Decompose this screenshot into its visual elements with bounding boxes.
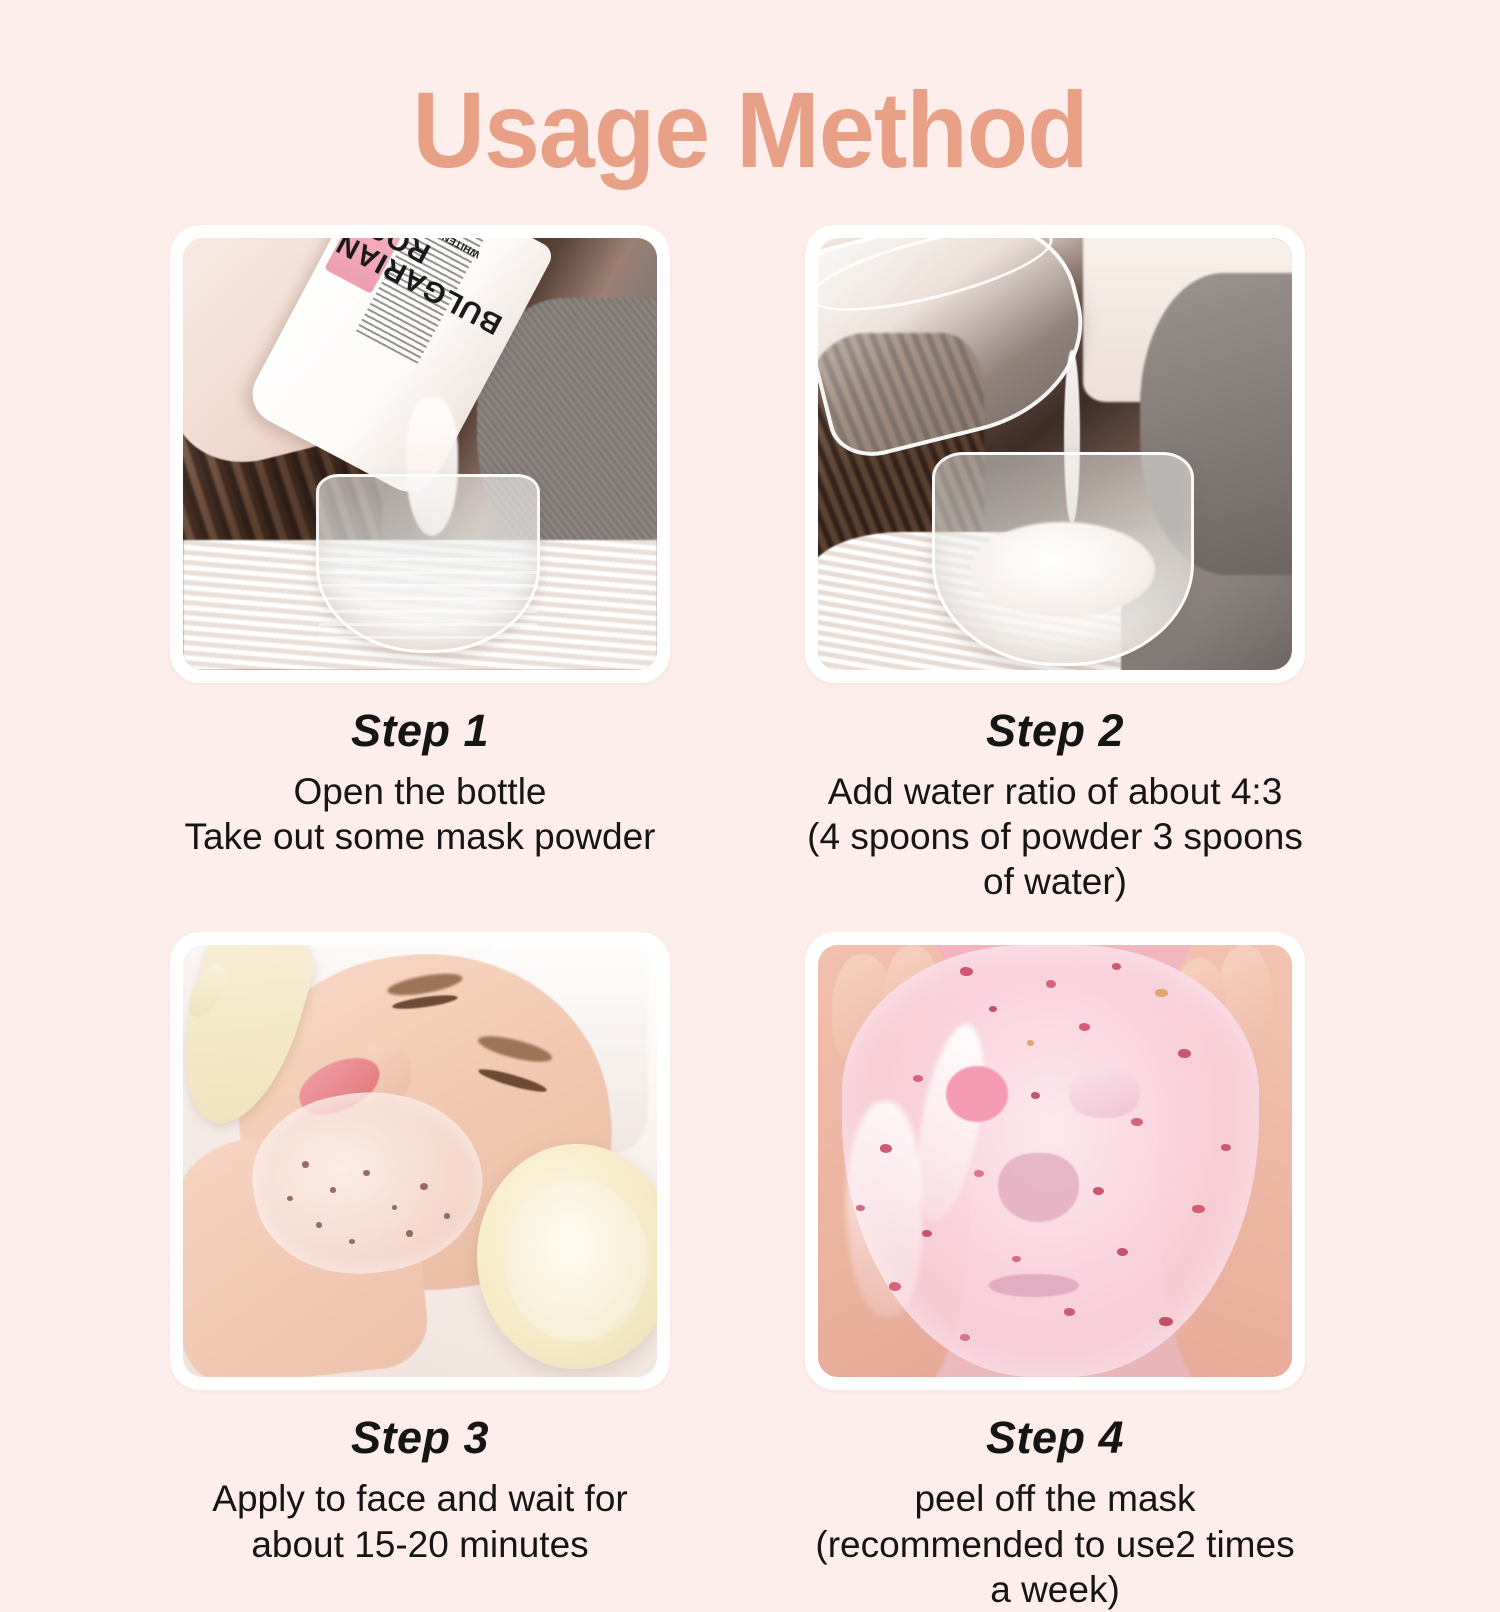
step-1-description: Open the bottle Take out some mask powde…	[170, 769, 670, 859]
rose-petal	[1192, 1205, 1204, 1214]
glass-pitcher	[818, 238, 1104, 466]
glass-bowl	[932, 452, 1194, 665]
mask-speck	[406, 1230, 413, 1236]
rose-petal	[1159, 1317, 1172, 1326]
step-3-photo-frame	[170, 932, 670, 1390]
mask-mouth-opening	[989, 1274, 1079, 1298]
steps-grid: BULGARIAN ROSE WHITEN & IMPROVE SKIN JEL…	[170, 225, 1400, 1612]
rose-petal	[1155, 989, 1168, 998]
mask-speck	[287, 1196, 293, 1201]
step-1-image-bottle-pouring-powder: BULGARIAN ROSE WHITEN & IMPROVE SKIN JEL…	[183, 238, 657, 670]
glass-bowl	[316, 474, 540, 653]
page-title: Usage Method	[53, 72, 1448, 189]
step-2-description: Add water ratio of about 4:3 (4 spoons o…	[805, 769, 1305, 904]
usage-method-infographic: Usage Method BULGARIAN ROSE WHITE	[0, 0, 1500, 1500]
step-3-heading: Step 3	[170, 1412, 670, 1464]
step-card-4: Step 4 peel off the mask (recommended to…	[805, 932, 1305, 1611]
rose-petal	[1178, 1049, 1190, 1058]
rose-petal	[1027, 1040, 1035, 1046]
step-4-photo-frame	[805, 932, 1305, 1390]
mask-speck	[316, 1222, 323, 1228]
mask-speck	[349, 1239, 355, 1244]
step-3-image-mask-applied-to-face	[183, 945, 657, 1377]
mask-speck	[392, 1205, 398, 1210]
mask-speck	[420, 1183, 428, 1190]
step-2-heading: Step 2	[805, 705, 1305, 757]
step-4-heading: Step 4	[805, 1412, 1305, 1464]
powder-in-bowl	[971, 522, 1155, 617]
rose-petal	[974, 1170, 983, 1177]
step-2-photo-frame	[805, 225, 1305, 683]
bowl-ring-detail	[319, 550, 537, 640]
step-3-description: Apply to face and wait for about 15-20 m…	[170, 1476, 670, 1566]
step-card-1: BULGARIAN ROSE WHITEN & IMPROVE SKIN JEL…	[170, 225, 670, 904]
mask-eye-opening-right	[1069, 1066, 1140, 1118]
rose-petal	[1117, 1248, 1128, 1256]
rose-petal	[856, 1205, 865, 1211]
rose-petal	[1046, 980, 1056, 988]
step-1-heading: Step 1	[170, 705, 670, 757]
step-2-image-pouring-water	[818, 238, 1292, 670]
rose-petal	[960, 967, 972, 976]
rose-petal	[1131, 1118, 1143, 1126]
mask-speck	[330, 1187, 336, 1193]
mask-speck	[444, 1213, 450, 1219]
step-4-image-peeling-jelly-mask	[818, 945, 1292, 1377]
pitcher-rim	[818, 238, 1059, 328]
rose-petal	[1064, 1308, 1074, 1315]
rose-petal	[960, 1334, 969, 1340]
rose-petal	[1112, 963, 1121, 970]
rose-petal	[1093, 1187, 1104, 1195]
rose-petal	[1031, 1092, 1040, 1098]
mask-nose-opening	[998, 1153, 1079, 1222]
rose-petal	[889, 1282, 901, 1290]
step-4-description: peel off the mask (recommended to use2 t…	[805, 1476, 1305, 1611]
rose-petal	[1079, 1023, 1090, 1031]
step-card-2: Step 2 Add water ratio of about 4:3 (4 s…	[805, 225, 1305, 904]
step-card-3: Step 3 Apply to face and wait for about …	[170, 932, 670, 1611]
step-1-photo-frame: BULGARIAN ROSE WHITEN & IMPROVE SKIN JEL…	[170, 225, 670, 683]
mask-eye-opening-left	[946, 1066, 1008, 1122]
bowl-interior	[505, 1180, 648, 1342]
